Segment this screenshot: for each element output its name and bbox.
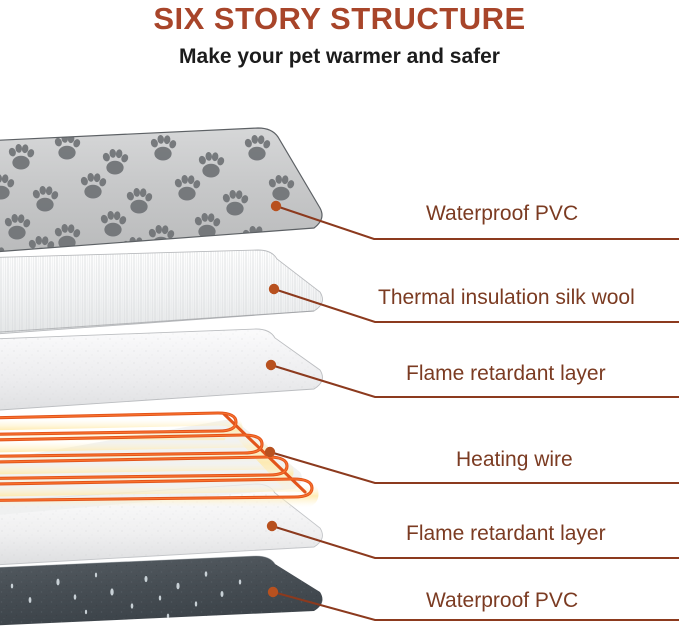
illustration-root: SIX STORY STRUCTURE Make your pet warmer… xyxy=(0,0,679,628)
leader-dot-1 xyxy=(271,201,281,211)
layer-label-1: Waterproof PVC xyxy=(426,202,578,226)
layer-4-heating-wire xyxy=(0,413,312,520)
layer-label-5: Flame retardant layer xyxy=(406,522,606,546)
layer-label-4: Heating wire xyxy=(456,448,573,472)
leader-dot-4 xyxy=(265,447,275,457)
leader-lines xyxy=(265,201,679,620)
layer-label-3: Flame retardant layer xyxy=(406,362,606,386)
leader-dot-5 xyxy=(267,521,277,531)
layer-label-6: Waterproof PVC xyxy=(426,589,578,613)
leader-dot-2 xyxy=(269,284,279,294)
leader-dot-6 xyxy=(268,587,278,597)
leader-dot-3 xyxy=(266,360,276,370)
layer-stack-diagram: Waterproof PVC Thermal insulation silk w… xyxy=(0,0,679,628)
layer-label-2: Thermal insulation silk wool xyxy=(378,286,635,310)
